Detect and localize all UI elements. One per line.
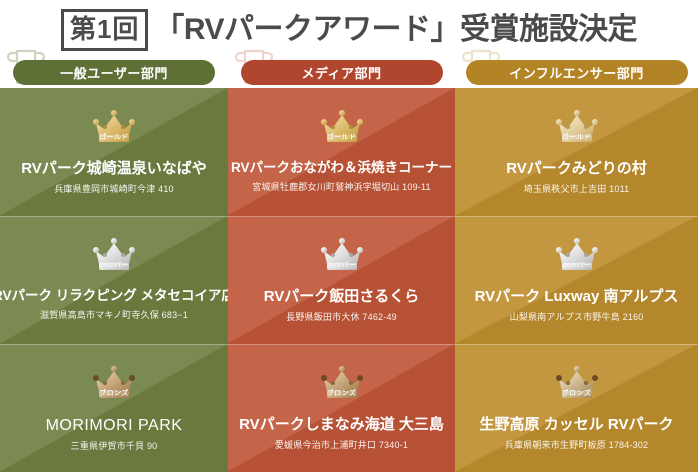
row-divider bbox=[228, 344, 455, 345]
rank-label: ブロンズ bbox=[317, 388, 367, 398]
facility-name: RVパーク城崎温泉いなばや bbox=[17, 160, 211, 178]
facility-name: RVパークおながわ＆浜焼きコーナー bbox=[228, 160, 455, 176]
rank-label: シルバー bbox=[552, 260, 602, 270]
award-cell-media-gold[interactable]: ゴールド RVパークおながわ＆浜焼きコーナー 宮城県牡鹿郡女川町鷲神浜字堀切山 … bbox=[228, 88, 455, 216]
category-label-influencer[interactable]: インフルエンサー部門 bbox=[466, 60, 688, 85]
rank-label: シルバー bbox=[89, 260, 139, 270]
award-column-general: ゴールド RVパーク城崎温泉いなばや 兵庫県豊岡市城崎町今津 410 bbox=[0, 88, 228, 472]
facility-name: RVパーク Luxway 南アルプス bbox=[471, 288, 683, 306]
award-cell-media-silver[interactable]: シルバー RVパーク飯田さるくら 長野県飯田市大休 7462-49 bbox=[228, 216, 455, 344]
category-banner-media: メディア部門 bbox=[228, 56, 455, 88]
page-title: 第1回 「RVパークアワード」受賞施設決定 bbox=[0, 0, 698, 56]
category-banner-general: 一般ユーザー部門 bbox=[0, 56, 228, 88]
row-divider bbox=[228, 216, 455, 217]
facility-name: 生野高原 カッセル RVパーク bbox=[476, 416, 678, 434]
crown-gold-icon: ゴールド bbox=[317, 106, 367, 146]
award-cell-general-bronze[interactable]: ブロンズ MORIMORI PARK 三重県伊賀市千貝 90 bbox=[0, 344, 228, 472]
crown-silver-icon: シルバー bbox=[552, 234, 602, 274]
facility-name: MORIMORI PARK bbox=[42, 416, 187, 435]
category-banner-influencer: インフルエンサー部門 bbox=[455, 56, 698, 88]
facility-address: 滋賀県高島市マキノ町寺久保 683−1 bbox=[40, 308, 188, 321]
facility-name: RVパークしまなみ海道 大三島 bbox=[235, 416, 448, 434]
facility-address: 埼玉県秩父市上吉田 1011 bbox=[524, 182, 630, 195]
facility-name: RVパーク リラクピング メタセコイア店 bbox=[0, 288, 228, 304]
award-cell-media-bronze[interactable]: ブロンズ RVパークしまなみ海道 大三島 愛媛県今治市上浦町井口 7340-1 bbox=[228, 344, 455, 472]
award-cell-influencer-bronze[interactable]: ブロンズ 生野高原 カッセル RVパーク 兵庫県朝来市生野町板原 1784-30… bbox=[455, 344, 698, 472]
category-label-general[interactable]: 一般ユーザー部門 bbox=[13, 60, 215, 85]
award-cell-general-gold[interactable]: ゴールド RVパーク城崎温泉いなばや 兵庫県豊岡市城崎町今津 410 bbox=[0, 88, 228, 216]
edition-badge: 第1回 bbox=[61, 9, 148, 51]
award-column-influencer: ゴールド RVパークみどりの村 埼玉県秩父市上吉田 1011 bbox=[455, 88, 698, 472]
crown-silver-icon: シルバー bbox=[89, 234, 139, 274]
row-divider bbox=[0, 216, 228, 217]
award-column-media: ゴールド RVパークおながわ＆浜焼きコーナー 宮城県牡鹿郡女川町鷲神浜字堀切山 … bbox=[228, 88, 455, 472]
rank-label: ブロンズ bbox=[89, 388, 139, 398]
crown-silver-icon: シルバー bbox=[317, 234, 367, 274]
rank-label: ゴールド bbox=[89, 132, 139, 142]
rank-label: シルバー bbox=[317, 260, 367, 270]
facility-address: 兵庫県朝来市生野町板原 1784-302 bbox=[505, 438, 649, 451]
facility-name: RVパークみどりの村 bbox=[502, 160, 651, 178]
award-cell-influencer-gold[interactable]: ゴールド RVパークみどりの村 埼玉県秩父市上吉田 1011 bbox=[455, 88, 698, 216]
crown-bronze-icon: ブロンズ bbox=[317, 362, 367, 402]
rank-label: ゴールド bbox=[317, 132, 367, 142]
title-text: 「RVパークアワード」受賞施設決定 bbox=[154, 15, 637, 45]
facility-address: 長野県飯田市大休 7462-49 bbox=[286, 310, 397, 323]
award-cell-general-silver[interactable]: シルバー RVパーク リラクピング メタセコイア店 滋賀県高島市マキノ町寺久保 … bbox=[0, 216, 228, 344]
crown-bronze-icon: ブロンズ bbox=[89, 362, 139, 402]
facility-address: 宮城県牡鹿郡女川町鷲神浜字堀切山 109-11 bbox=[252, 180, 430, 193]
award-cell-influencer-silver[interactable]: シルバー RVパーク Luxway 南アルプス 山梨県南アルプス市野牛島 216… bbox=[455, 216, 698, 344]
row-divider bbox=[455, 216, 698, 217]
rank-label: ブロンズ bbox=[552, 388, 602, 398]
crown-gold-icon: ゴールド bbox=[89, 106, 139, 146]
row-divider bbox=[0, 344, 228, 345]
rank-label: ゴールド bbox=[552, 132, 602, 142]
award-grid: ゴールド RVパーク城崎温泉いなばや 兵庫県豊岡市城崎町今津 410 bbox=[0, 88, 698, 472]
crown-bronze-icon: ブロンズ bbox=[552, 362, 602, 402]
crown-gold-icon: ゴールド bbox=[552, 106, 602, 146]
facility-name: RVパーク飯田さるくら bbox=[260, 288, 424, 306]
facility-address: 三重県伊賀市千貝 90 bbox=[71, 439, 158, 452]
facility-address: 兵庫県豊岡市城崎町今津 410 bbox=[54, 182, 174, 195]
facility-address: 愛媛県今治市上浦町井口 7340-1 bbox=[275, 438, 408, 451]
category-banner-row: 一般ユーザー部門 メディア部門 インフルエンサー部門 bbox=[0, 56, 698, 88]
facility-address: 山梨県南アルプス市野牛島 2160 bbox=[510, 310, 644, 323]
category-label-media[interactable]: メディア部門 bbox=[241, 60, 443, 85]
row-divider bbox=[455, 344, 698, 345]
